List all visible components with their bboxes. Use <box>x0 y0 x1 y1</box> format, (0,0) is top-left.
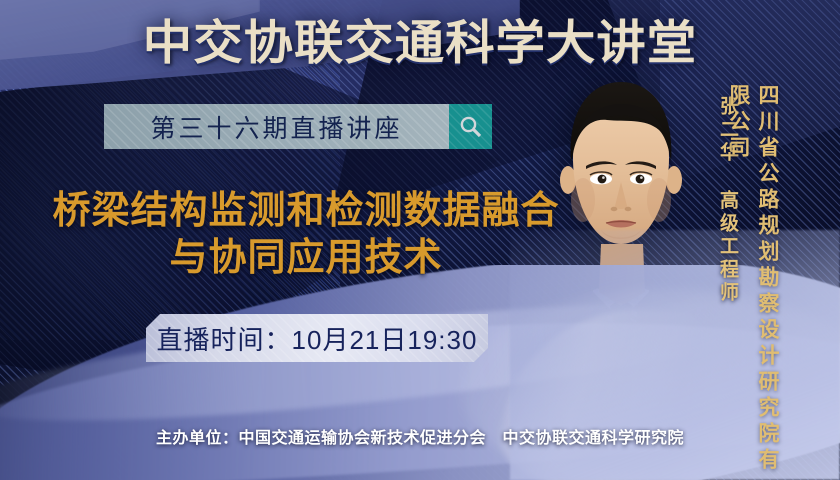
subtitle-label-bar: 第三十六期直播讲座 <box>104 104 449 149</box>
organizer-footer: 主办单位：中国交通运输协会新技术促进分会 中交协联交通科学研究院 <box>0 424 840 448</box>
lecture-title-line1: 桥梁结构监测和检测数据融合 <box>52 190 559 232</box>
lecture-title: 桥梁结构监测和检测数据融合 与协同应用技术 <box>46 188 566 282</box>
speaker-organization: 四川省公路规划勘察设计研究院有限公司 <box>752 84 782 474</box>
subtitle-label: 第三十六期直播讲座 <box>150 109 402 145</box>
lecture-title-line2: 与协同应用技术 <box>46 235 566 282</box>
subtitle-bar: 第三十六期直播讲座 <box>104 104 492 149</box>
broadcast-time-badge: 直播时间：10月21日19:30 <box>146 314 488 362</box>
broadcast-time-text: 直播时间：10月21日19:30 <box>157 320 478 357</box>
live-lecture-poster: 中交协联交通科学大讲堂 第三十六期直播讲座 桥梁结构监测和检测数据融合 与协同应… <box>0 0 840 480</box>
search-icon[interactable] <box>449 104 492 149</box>
page-title: 中交协联交通科学大讲堂 <box>0 14 840 72</box>
